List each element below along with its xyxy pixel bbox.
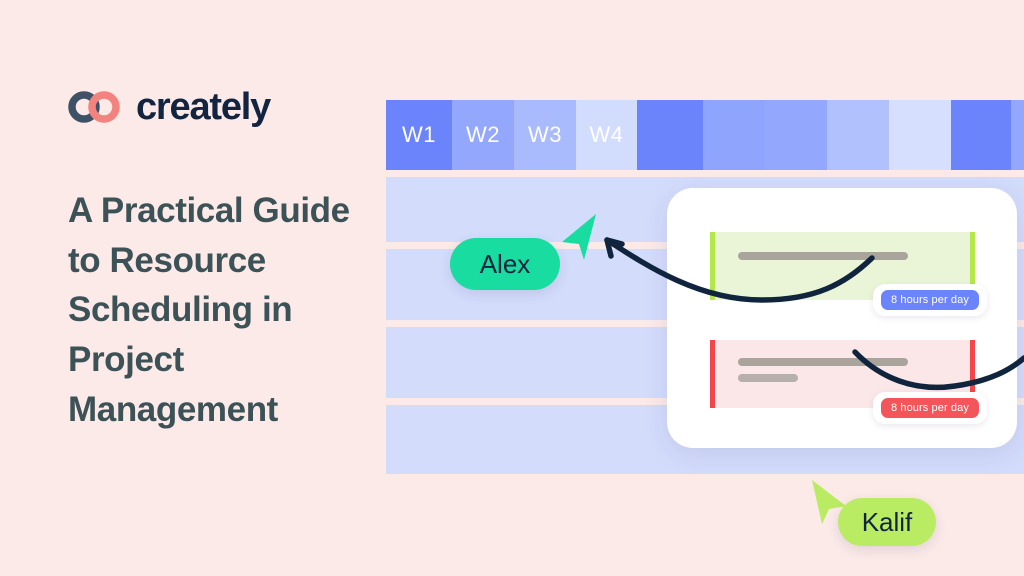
collaborator-name-pill-kalif[interactable]: Kalif	[838, 498, 936, 546]
page-title: A Practical Guide to Resource Scheduling…	[68, 186, 358, 434]
task-start-handle-pink[interactable]	[710, 340, 715, 408]
timeline-cell-8[interactable]	[827, 100, 889, 170]
timeline-cell-11[interactable]	[1011, 100, 1024, 170]
brand-wordmark: creately	[136, 88, 270, 126]
timeline-cell-10[interactable]	[951, 100, 1011, 170]
collaborator-name-kalif: Kalif	[862, 507, 913, 538]
banner-canvas: creately A Practical Guide to Resource S…	[0, 0, 1024, 576]
timeline-cell-5[interactable]	[637, 100, 703, 170]
collaborator-cursor-kalif: Kalif	[808, 478, 938, 558]
hours-badge-green: 8 hours per day	[881, 290, 979, 310]
task-label-placeholder	[738, 252, 908, 260]
timeline-cell-9[interactable]	[889, 100, 951, 170]
timeline-cell-w3[interactable]: W3	[514, 100, 576, 170]
collaborator-name-alex: Alex	[480, 249, 531, 280]
timeline-header: W1W2W3W4	[386, 100, 1024, 170]
timeline-cell-label: W4	[590, 122, 624, 148]
timeline-cell-w1[interactable]: W1	[386, 100, 452, 170]
collaborator-name-pill-alex[interactable]: Alex	[450, 238, 560, 290]
collaborator-cursor-alex: Alex	[450, 212, 600, 292]
interlocking-rings-icon	[68, 91, 122, 123]
task-label-placeholder	[738, 358, 908, 366]
hours-badge-pink: 8 hours per day	[881, 398, 979, 418]
timeline-cell-label: W1	[402, 122, 436, 148]
brand-logo: creately	[68, 88, 270, 126]
timeline-cell-7[interactable]	[765, 100, 827, 170]
hours-badge-green-wrap: 8 hours per day	[873, 284, 987, 316]
task-detail-card: 8 hours per day 8 hours per day	[667, 188, 1017, 448]
timeline-cell-6[interactable]	[703, 100, 765, 170]
timeline-cell-w2[interactable]: W2	[452, 100, 514, 170]
timeline-cell-w4[interactable]: W4	[576, 100, 637, 170]
timeline-cell-label: W3	[528, 122, 562, 148]
hours-badge-pink-wrap: 8 hours per day	[873, 392, 987, 424]
task-start-handle-green[interactable]	[710, 232, 715, 300]
timeline-cell-label: W2	[466, 122, 500, 148]
task-subtitle-placeholder	[738, 374, 798, 382]
cursor-pointer-icon	[558, 212, 606, 264]
